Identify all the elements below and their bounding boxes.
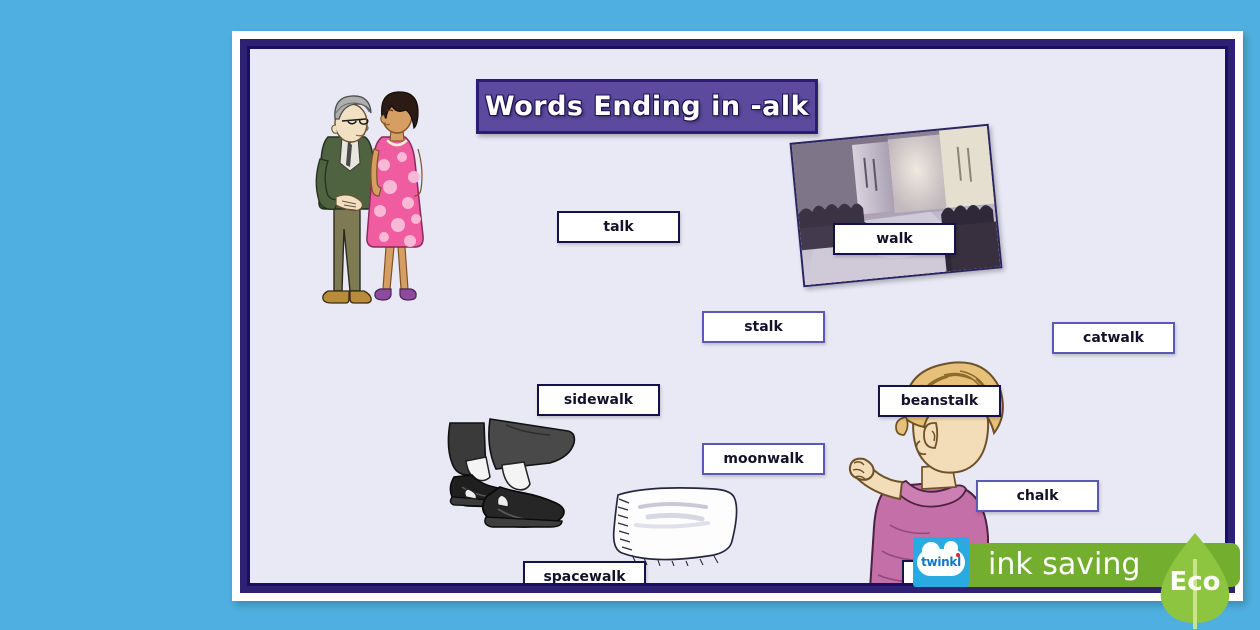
word-card-label: moonwalk — [723, 451, 803, 467]
poster: Words Ending in -alk — [232, 31, 1243, 601]
twinkl-wordmark: twinkl — [921, 555, 961, 569]
word-card-spacewalk[interactable]: spacewalk — [523, 561, 646, 583]
eco-badge: ink saving Eco twinkl — [913, 537, 1260, 595]
word-card-catwalk[interactable]: catwalk — [1052, 322, 1175, 354]
pillow-illustration — [610, 481, 750, 566]
cloud-icon: twinkl — [917, 549, 965, 576]
word-card-beanstalk[interactable]: beanstalk — [878, 385, 1001, 417]
word-card-moonwalk[interactable]: moonwalk — [702, 443, 825, 475]
leaf-icon: Eco — [1150, 529, 1240, 629]
poster-title-box: Words Ending in -alk — [476, 79, 818, 134]
word-card-label: beanstalk — [901, 393, 979, 409]
word-card-label: spacewalk — [543, 569, 625, 583]
screenshot-canvas: Words Ending in -alk — [0, 0, 1260, 630]
word-card-chalk[interactable]: chalk — [976, 480, 1099, 512]
word-card-walk[interactable]: walk — [833, 223, 956, 255]
word-card-label: talk — [603, 219, 633, 235]
poster-interior: Words Ending in -alk — [250, 49, 1225, 583]
word-card-stalk[interactable]: stalk — [702, 311, 825, 343]
twinkl-logo: twinkl — [913, 537, 969, 587]
word-card-label: sidewalk — [564, 392, 633, 408]
people-talking-illustration — [298, 79, 433, 314]
word-card-label: walk — [876, 231, 913, 247]
word-card-label: chalk — [1017, 488, 1059, 504]
ink-saving-bar: ink saving Eco — [950, 543, 1240, 587]
moonwalk-shoes-illustration — [446, 417, 581, 542]
catwalk-photo — [790, 124, 1003, 288]
word-card-sidewalk[interactable]: sidewalk — [537, 384, 660, 416]
eco-label: Eco — [1169, 567, 1220, 597]
poster-border: Words Ending in -alk — [240, 39, 1235, 593]
page-title: Words Ending in -alk — [485, 91, 809, 122]
word-card-talk[interactable]: talk — [557, 211, 680, 243]
word-card-label: stalk — [744, 319, 783, 335]
twinkl-dot-icon — [956, 553, 960, 557]
word-card-label: catwalk — [1083, 330, 1144, 346]
ink-saving-label: ink saving — [988, 550, 1140, 580]
